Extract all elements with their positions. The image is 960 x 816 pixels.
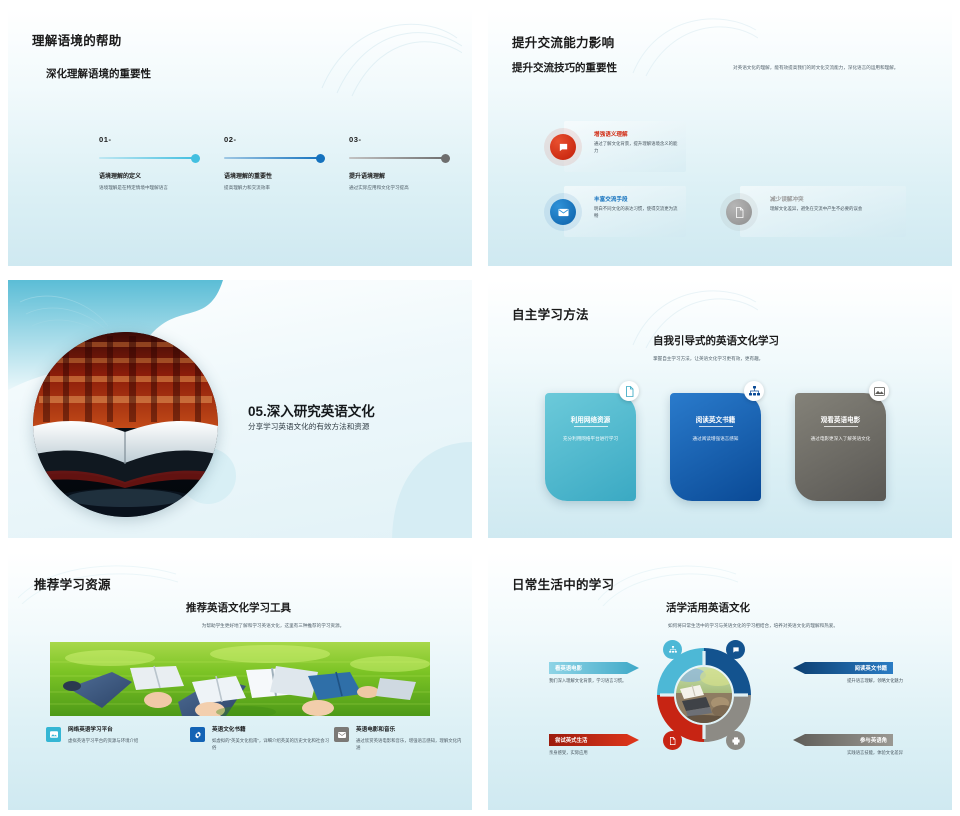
method-card[interactable]: 阅读英文书籍 通过阅读增强语言感知: [670, 393, 761, 501]
chat-bubble-icon: [726, 640, 745, 659]
slider-knob[interactable]: [191, 154, 200, 163]
slide-thumbnail-resources[interactable]: 推荐学习资源 推荐英语文化学习工具 为帮助学生更好地了解和学习英语文化，这里有三…: [0, 544, 480, 816]
envelope-icon: [334, 727, 349, 742]
page-description: 掌握自主学习方法，让英语文化学习更有效，更有趣。: [653, 355, 893, 362]
page-title: 05.深入研究英语文化: [248, 400, 375, 420]
callout-label[interactable]: 看英语电影: [549, 662, 639, 674]
image-icon: [869, 381, 889, 401]
chat-bubble-icon: [550, 134, 576, 160]
four-segment-donut: [656, 647, 752, 743]
step-heading: 提升语境理解: [349, 171, 467, 180]
swirl-decoration-icon: [598, 556, 738, 606]
callout-body: 实践语言技能，体验文化差异: [793, 750, 903, 757]
slide-grid: 理解语境的帮助 深化理解语境的重要性 01- 语境理解的定义 语境理解是在特定情…: [0, 0, 960, 816]
card-body: 通过阅读增强语言感知: [680, 435, 751, 442]
page-description: 为帮助学生更好地了解和学习英语文化，这里有三种推荐的学习资源。: [158, 622, 388, 629]
slide-thumbnail-self-study[interactable]: 自主学习方法 自我引导式的英语文化学习 掌握自主学习方法，让英语文化学习更有效，…: [480, 272, 960, 544]
page-title: 推荐学习资源: [34, 574, 111, 593]
students-reading-on-grass-photo: [50, 642, 430, 716]
step-heading: 语境理解的定义: [99, 171, 217, 180]
card-heading: 阅读英文书籍: [670, 414, 761, 424]
printer-icon: [726, 731, 745, 750]
slide-thumbnail-section-cover[interactable]: 05.深入研究英语文化 分享学习英语文化的有效方法和资源: [0, 272, 480, 544]
divider: [824, 426, 858, 427]
book-and-laptop-outdoors-photo: [676, 667, 732, 723]
gear-icon: [190, 727, 205, 742]
step-heading: 语境理解的重要性: [224, 171, 342, 180]
slider-knob[interactable]: [316, 154, 325, 163]
slider-knob[interactable]: [441, 154, 450, 163]
step-number: 01-: [99, 135, 217, 144]
page-title: 日常生活中的学习: [512, 574, 614, 593]
card-heading: 增强语义理解: [594, 130, 628, 138]
step-body: 语境理解是在特定情境中理解语言: [99, 185, 217, 192]
open-book-photo: [33, 332, 218, 517]
page-subtitle: 提升交流技巧的重要性: [512, 60, 617, 75]
divider: [699, 426, 733, 427]
item-heading: 英语电影和音乐: [356, 725, 464, 733]
resource-item: 网络英语学习平台 虚拟英语学习平台的资源与环境介绍: [68, 725, 186, 744]
callout-heading: 看英语电影: [555, 664, 582, 672]
method-card[interactable]: 观看英语电影 通过电影更深入了解英语文化: [795, 393, 886, 501]
step-item: 01- 语境理解的定义 语境理解是在特定情境中理解语言: [99, 135, 217, 192]
divider: [574, 426, 608, 427]
card-body: 理解文化差异，避免在交流中产生不必要的误会: [770, 205, 895, 212]
page-title: 提升交流能力影响: [512, 32, 614, 51]
step-body: 提高理解力和交流效率: [224, 185, 342, 192]
progress-slider[interactable]: [99, 157, 196, 159]
progress-slider[interactable]: [224, 157, 321, 159]
callout-label[interactable]: 尝试英式生活: [549, 734, 639, 746]
method-card[interactable]: 利用网络资源 充分利用网络平台进行学习: [545, 393, 636, 501]
card-heading: 丰富交流手段: [594, 195, 628, 203]
image-icon: [46, 727, 61, 742]
slide-canvas: 自主学习方法 自我引导式的英语文化学习 掌握自主学习方法，让英语文化学习更有效，…: [488, 280, 952, 538]
page-description: 如何将日常生活中的学习与英语文化的学习相结合，培养对英语文化的理解和热爱。: [608, 622, 898, 629]
page-subtitle: 活学活用英语文化: [666, 600, 750, 615]
item-body: 如虚拟的“英美文化指南”，详细介绍英美的历史文化和社会习俗: [212, 737, 330, 751]
sitemap-icon: [744, 381, 764, 401]
document-icon: [726, 199, 752, 225]
slide-canvas: 日常生活中的学习 活学活用英语文化 如何将日常生活中的学习与英语文化的学习相结合…: [488, 552, 952, 810]
card-body: 明白不同文化的表达习惯，使得交流更为流畅: [594, 205, 678, 219]
slide-thumbnail-daily-life[interactable]: 日常生活中的学习 活学活用英语文化 如何将日常生活中的学习与英语文化的学习相结合…: [480, 544, 960, 816]
blob-decoration-icon: [352, 434, 472, 538]
callout-body: 提升语言理解，领略文化魅力: [793, 678, 903, 685]
page-title: 理解语境的帮助: [32, 30, 122, 49]
page-subtitle: 自我引导式的英语文化学习: [653, 333, 779, 348]
callout-heading: 尝试英式生活: [555, 736, 587, 744]
callout-heading: 参与英语角: [860, 736, 887, 744]
page-description: 对英语文化的理解，能有效提高我们的跨文化交流能力，深化语言的运用和理解。: [733, 64, 918, 71]
resource-item: 英语电影和音乐 通过欣赏英语电影和音乐，增强语言感知，理解文化内涵: [356, 725, 464, 751]
card-heading: 减少误解冲突: [770, 195, 804, 203]
step-item: 02- 语境理解的重要性 提高理解力和交流效率: [224, 135, 342, 192]
step-number: 02-: [224, 135, 342, 144]
step-body: 通过实际应用和文化学习提高: [349, 185, 467, 192]
callout-body: 我们深入理解文化背景，学习语言习惯。: [549, 678, 637, 685]
swirl-decoration-icon: [312, 8, 462, 98]
page-title: 自主学习方法: [512, 304, 589, 323]
page-subtitle: 深化理解语境的重要性: [46, 66, 151, 81]
card-body: 充分利用网络平台进行学习: [555, 435, 626, 442]
sitemap-icon: [663, 640, 682, 659]
callout-body: 亲身感受，实际应用: [549, 750, 637, 757]
step-item: 03- 提升语境理解 通过实际应用和文化学习提高: [349, 135, 467, 192]
card-heading: 观看英语电影: [795, 414, 886, 424]
callout-label[interactable]: 阅读英文书籍: [793, 662, 893, 674]
item-heading: 网络英语学习平台: [68, 725, 186, 733]
slide-canvas: 理解语境的帮助 深化理解语境的重要性 01- 语境理解的定义 语境理解是在特定情…: [8, 8, 472, 266]
card-heading: 利用网络资源: [545, 414, 636, 424]
document-icon: [663, 731, 682, 750]
page-subtitle: 推荐英语文化学习工具: [186, 600, 291, 615]
slide-canvas: 推荐学习资源 推荐英语文化学习工具 为帮助学生更好地了解和学习英语文化，这里有三…: [8, 552, 472, 810]
callout-label[interactable]: 参与英语角: [793, 734, 893, 746]
item-body: 虚拟英语学习平台的资源与环境介绍: [68, 737, 186, 744]
slide-thumbnail-context-help[interactable]: 理解语境的帮助 深化理解语境的重要性 01- 语境理解的定义 语境理解是在特定情…: [0, 0, 480, 272]
page-subtitle: 分享学习英语文化的有效方法和资源: [248, 421, 370, 432]
resource-item: 英语文化书籍 如虚拟的“英美文化指南”，详细介绍英美的历史文化和社会习俗: [212, 725, 330, 751]
card-body: 通过电影更深入了解英语文化: [805, 435, 876, 442]
slide-canvas: 提升交流能力影响 提升交流技巧的重要性 对英语文化的理解，能有效提高我们的跨文化…: [488, 8, 952, 266]
progress-slider[interactable]: [349, 157, 446, 159]
envelope-icon: [550, 199, 576, 225]
card-body: 通过了解文化背景，提升理解语境含义的能力: [594, 140, 678, 154]
callout-heading: 阅读英文书籍: [855, 664, 887, 672]
document-icon: [619, 381, 639, 401]
slide-canvas: 05.深入研究英语文化 分享学习英语文化的有效方法和资源: [8, 280, 472, 538]
step-number: 03-: [349, 135, 467, 144]
item-body: 通过欣赏英语电影和音乐，增强语言感知，理解文化内涵: [356, 737, 464, 751]
slide-thumbnail-communication[interactable]: 提升交流能力影响 提升交流技巧的重要性 对英语文化的理解，能有效提高我们的跨文化…: [480, 0, 960, 272]
item-heading: 英语文化书籍: [212, 725, 330, 733]
